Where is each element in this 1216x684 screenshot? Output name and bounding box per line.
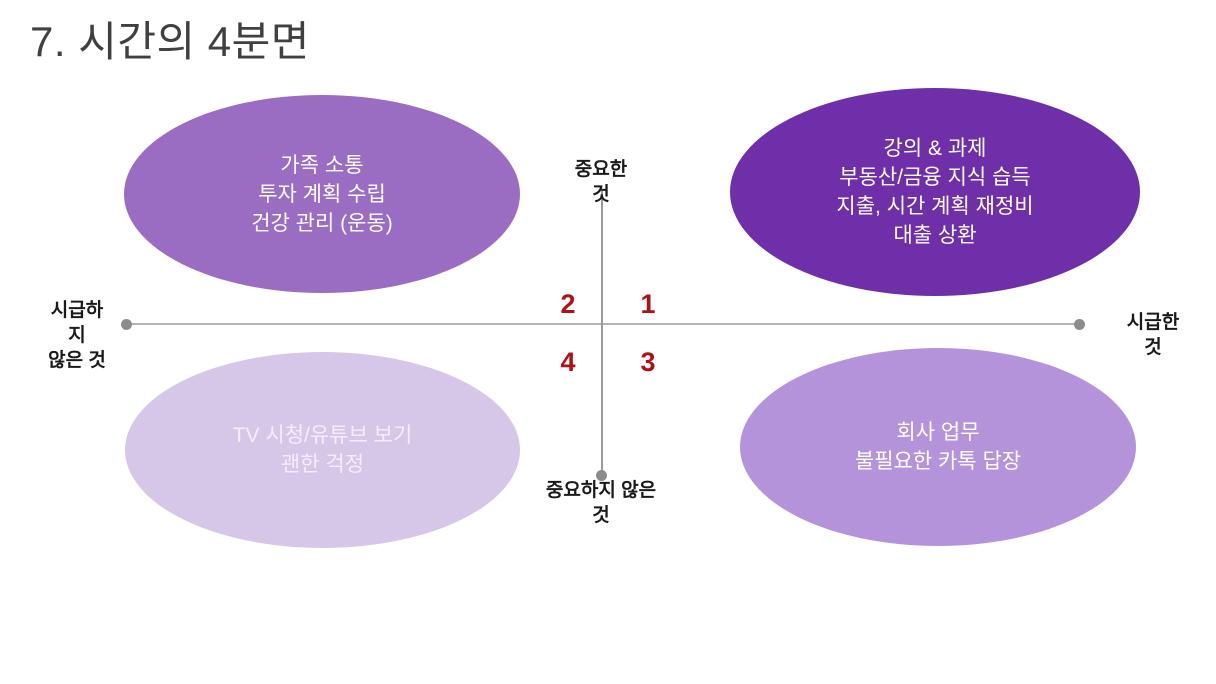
quadrant-ellipse-4[interactable]: TV 시청/유튜브 보기 괜한 걱정 (125, 352, 520, 548)
quadrant-number-1: 1 (633, 289, 663, 319)
quadrant-number-3: 3 (633, 347, 663, 377)
quadrant-ellipse-4-text: TV 시청/유튜브 보기 괜한 걱정 (209, 421, 437, 479)
quadrant-ellipse-3-text: 회사 업무 불필요한 카톡 답장 (831, 418, 1045, 476)
axis-label-urgent: 시급한 것 (1098, 310, 1208, 360)
quadrant-ellipse-2[interactable]: 가족 소통 투자 계획 수립 건강 관리 (운동) (124, 95, 520, 293)
quadrant-number-4: 4 (553, 347, 583, 377)
axis-label-not-urgent: 시급하 지 않은 것 (28, 298, 126, 373)
axis-label-not-important: 중요하지 않은 것 (516, 478, 686, 528)
horizontal-axis-line (128, 323, 1078, 325)
quadrant-ellipse-2-text: 가족 소통 투자 계획 수립 건강 관리 (운동) (227, 151, 417, 238)
vertical-axis-line (601, 190, 603, 475)
quadrant-number-2: 2 (553, 289, 583, 319)
axis-endpoint-dot-right (1074, 319, 1085, 330)
axis-label-important: 중요한 것 (541, 157, 661, 207)
quadrant-ellipse-3[interactable]: 회사 업무 불필요한 카톡 답장 (740, 348, 1136, 546)
page-title: 7. 시간의 4분면 (30, 16, 310, 68)
slide-canvas: 7. 시간의 4분면 중요한 것 중요하지 않은 것 시급하 지 않은 것 시급… (0, 0, 1216, 684)
quadrant-ellipse-1[interactable]: 강의 & 과제 부동산/금융 지식 습득 지출, 시간 계획 재정비 대출 상환 (730, 88, 1140, 296)
quadrant-ellipse-1-text: 강의 & 과제 부동산/금융 지식 습득 지출, 시간 계획 재정비 대출 상환 (812, 134, 1057, 250)
